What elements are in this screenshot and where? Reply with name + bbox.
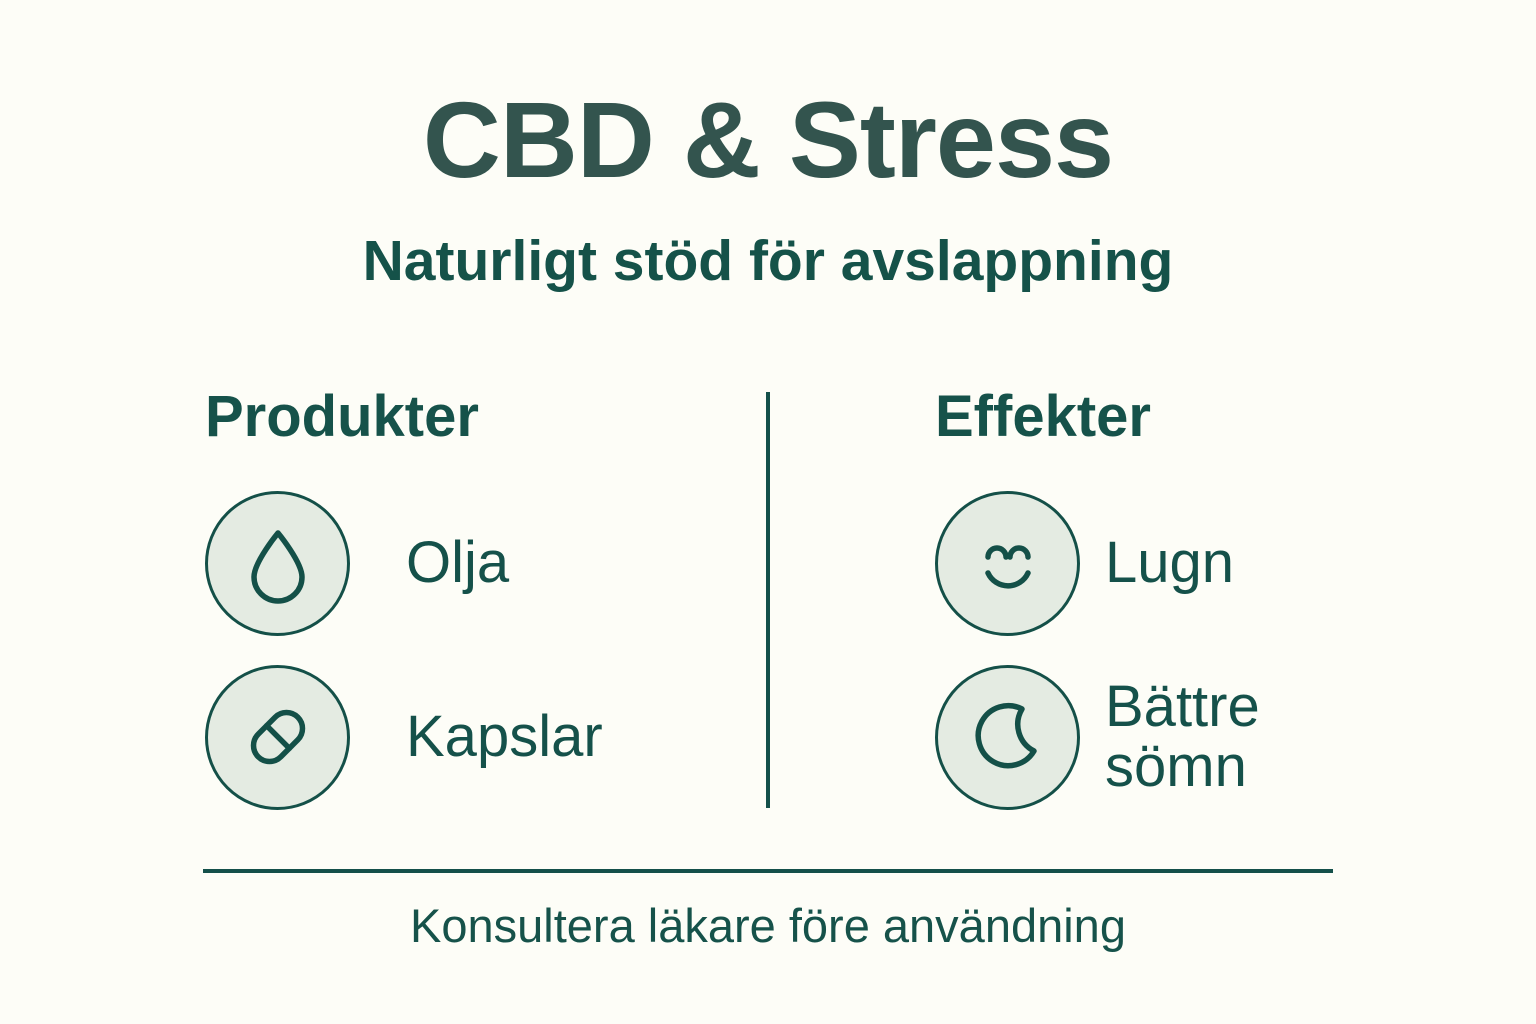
effects-heading: Effekter [935,388,1335,446]
list-item-label: Kapslar [406,707,603,767]
disclaimer-text: Konsultera läkare före användning [0,898,1536,953]
list-item-label: Bättre sömn [1105,677,1260,796]
smiley-face-icon [935,491,1080,636]
products-heading: Produkter [205,388,725,446]
list-item-battre-somn: Bättre sömn [935,664,1335,810]
capsule-icon [205,665,350,810]
infographic-poster: CBD & Stress Naturligt stöd för avslappn… [0,0,1536,1024]
effects-column: Effekter Lugn Bättre sömn [935,388,1335,838]
list-item-lugn: Lugn [935,490,1335,636]
footer-divider [203,869,1333,873]
column-divider [766,392,770,808]
droplet-icon [205,491,350,636]
crescent-moon-icon [935,665,1080,810]
list-item-kapslar: Kapslar [205,664,725,810]
page-title: CBD & Stress [0,86,1536,194]
products-column: Produkter Olja Kapslar [205,388,725,838]
page-subtitle: Naturligt stöd för avslappning [0,232,1536,292]
list-item-olja: Olja [205,490,725,636]
list-item-label: Lugn [1105,533,1234,593]
list-item-label: Olja [406,533,509,593]
